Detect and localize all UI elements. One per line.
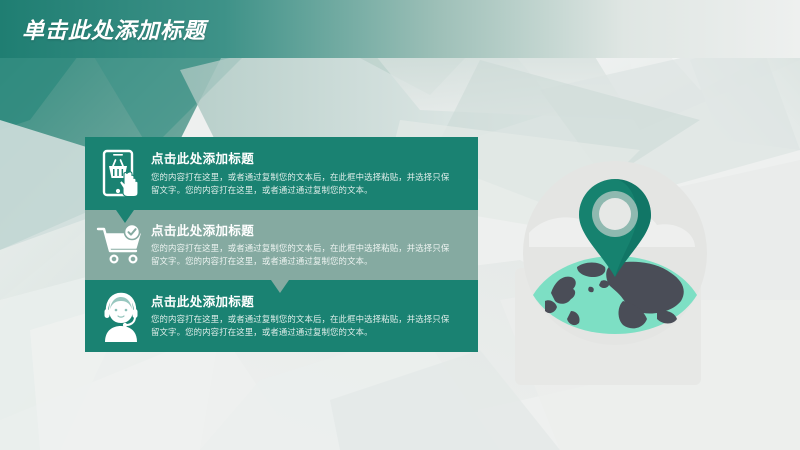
slide-title-bar: 单击此处添加标题: [0, 0, 800, 58]
info-row-1-title: 点击此处添加标题: [151, 152, 449, 168]
info-row-1[interactable]: 点击此处添加标题 您的内容打在这里，或者通过复制您的文本后，在此框中选择粘贴，并…: [85, 137, 478, 210]
info-row-1-body-line-2: 留文字。您的内容打在这里，或者通过通过复制您的文本。: [151, 184, 449, 197]
info-row-2-title: 点击此处添加标题: [151, 224, 449, 240]
info-row-3-body-line-1: 您的内容打在这里，或者通过复制您的文本后，在此框中选择粘贴，并选择只保: [151, 313, 449, 326]
customer-service-headset-person-icon: [85, 290, 151, 342]
info-row-2-text: 点击此处添加标题 您的内容打在这里，或者通过复制您的文本后，在此框中选择粘贴，并…: [151, 222, 459, 269]
row-1-notch: [116, 210, 134, 223]
info-row-2-body-line-2: 留文字。您的内容打在这里，或者通过通过复制您的文本。: [151, 255, 449, 268]
info-row-3-title: 点击此处添加标题: [151, 295, 449, 311]
info-row-2-body-line-1: 您的内容打在这里，或者通过复制您的文本后，在此框中选择粘贴，并选择只保: [151, 242, 449, 255]
globe-with-location-pin-illustration: [515, 143, 765, 393]
slide-canvas: 单击此处添加标题: [0, 0, 800, 450]
info-row-1-body-line-1: 您的内容打在这里，或者通过复制您的文本后，在此框中选择粘贴，并选择只保: [151, 171, 449, 184]
row-2-notch: [271, 280, 289, 293]
shopping-cart-check-icon: [85, 223, 151, 267]
page-title: 单击此处添加标题: [22, 13, 206, 45]
globe-pin-graphic: [515, 143, 765, 393]
tablet-shopping-basket-tap-icon: [85, 149, 151, 199]
info-row-3-body-line-2: 留文字。您的内容打在这里，或者通过通过复制您的文本。: [151, 326, 449, 339]
info-row-1-text: 点击此处添加标题 您的内容打在这里，或者通过复制您的文本后，在此框中选择粘贴，并…: [151, 150, 459, 197]
info-row-3-text: 点击此处添加标题 您的内容打在这里，或者通过复制您的文本后，在此框中选择粘贴，并…: [151, 293, 459, 340]
info-panel: 点击此处添加标题 您的内容打在这里，或者通过复制您的文本后，在此框中选择粘贴，并…: [85, 137, 478, 352]
info-row-2[interactable]: 点击此处添加标题 您的内容打在这里，或者通过复制您的文本后，在此框中选择粘贴，并…: [85, 210, 478, 280]
